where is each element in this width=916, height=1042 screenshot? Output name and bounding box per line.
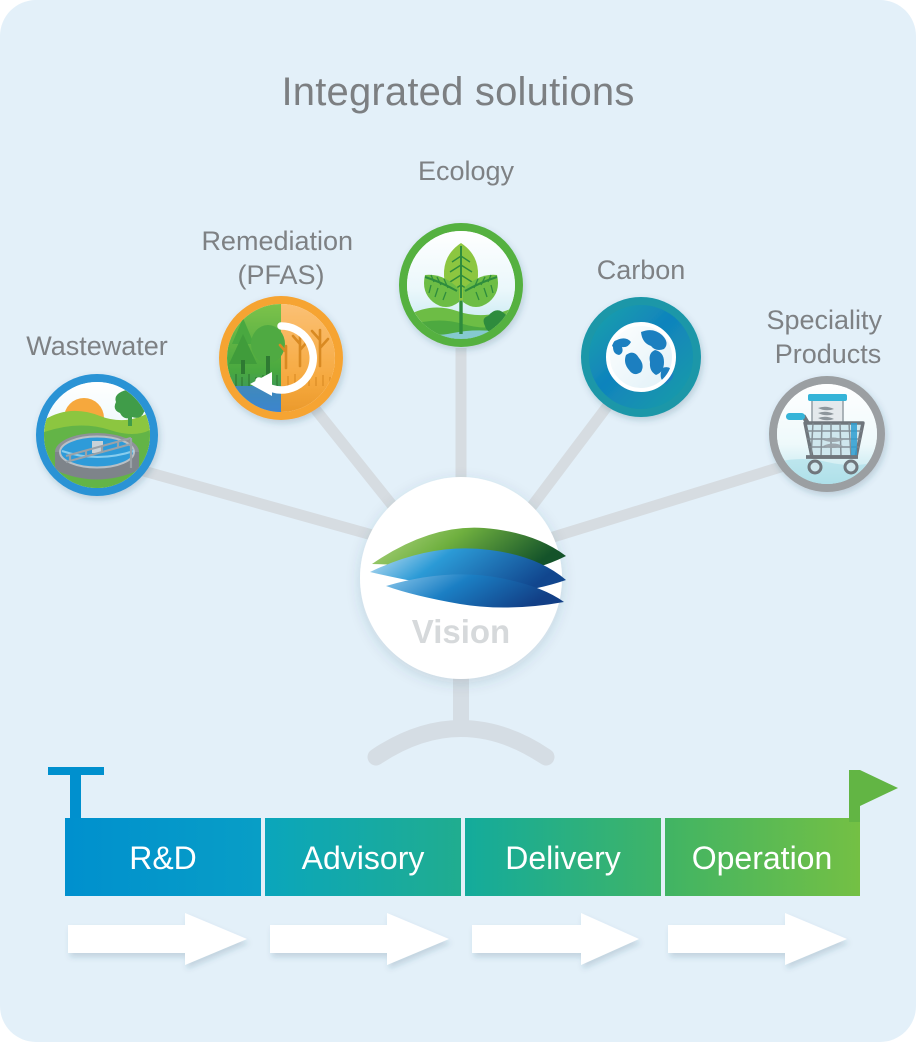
process-segment-label: Advisory — [302, 840, 425, 876]
hub-label: Vision — [412, 613, 510, 650]
process-segment-advisory[interactable]: Advisory — [265, 818, 461, 896]
diagram-canvas: Integrated solutions Wastewater Remediat… — [0, 0, 916, 1042]
node-label-wastewater: Wastewater — [26, 331, 168, 361]
process-segment-delivery[interactable]: Delivery — [465, 818, 661, 896]
wastewater-clarifier-icon — [44, 382, 150, 488]
remediation-recycle-icon — [227, 304, 335, 412]
end-flag-marker — [849, 770, 898, 822]
connector-wastewater — [140, 470, 390, 540]
node-speciality-products[interactable] — [769, 376, 885, 492]
carbon-globe-icon — [608, 324, 674, 390]
node-label-remediation: Remediation (PFAS) — [201, 226, 360, 290]
process-segment-rnd[interactable]: R&D — [65, 818, 261, 896]
speciality-products-cart-icon — [777, 384, 877, 484]
connector-carbon — [523, 400, 612, 518]
flow-arrow — [270, 913, 449, 965]
connector-remediation — [312, 405, 404, 520]
page-title: Integrated solutions — [281, 70, 634, 114]
process-segment-label: Delivery — [505, 840, 621, 876]
node-label-carbon: Carbon — [597, 255, 686, 285]
node-ecology[interactable] — [399, 223, 523, 347]
ecology-plant-icon — [407, 231, 515, 339]
stand-arc — [376, 729, 546, 758]
flow-arrow — [472, 913, 639, 965]
node-carbon[interactable] — [581, 297, 701, 417]
start-tee-marker — [48, 767, 104, 822]
connector-speciality — [537, 466, 784, 542]
process-bar: R&D Advisory Delivery Operation — [65, 818, 860, 896]
process-segment-label: Operation — [692, 840, 833, 876]
flow-arrow — [68, 913, 247, 965]
node-wastewater[interactable] — [36, 374, 158, 496]
process-segment-label: R&D — [129, 840, 197, 876]
node-label-ecology: Ecology — [418, 156, 515, 186]
flow-arrows — [68, 913, 847, 965]
flow-arrow — [668, 913, 847, 965]
process-segment-operation[interactable]: Operation — [665, 818, 860, 896]
node-remediation[interactable] — [219, 296, 343, 420]
node-label-speciality: Speciality Products — [766, 305, 889, 369]
